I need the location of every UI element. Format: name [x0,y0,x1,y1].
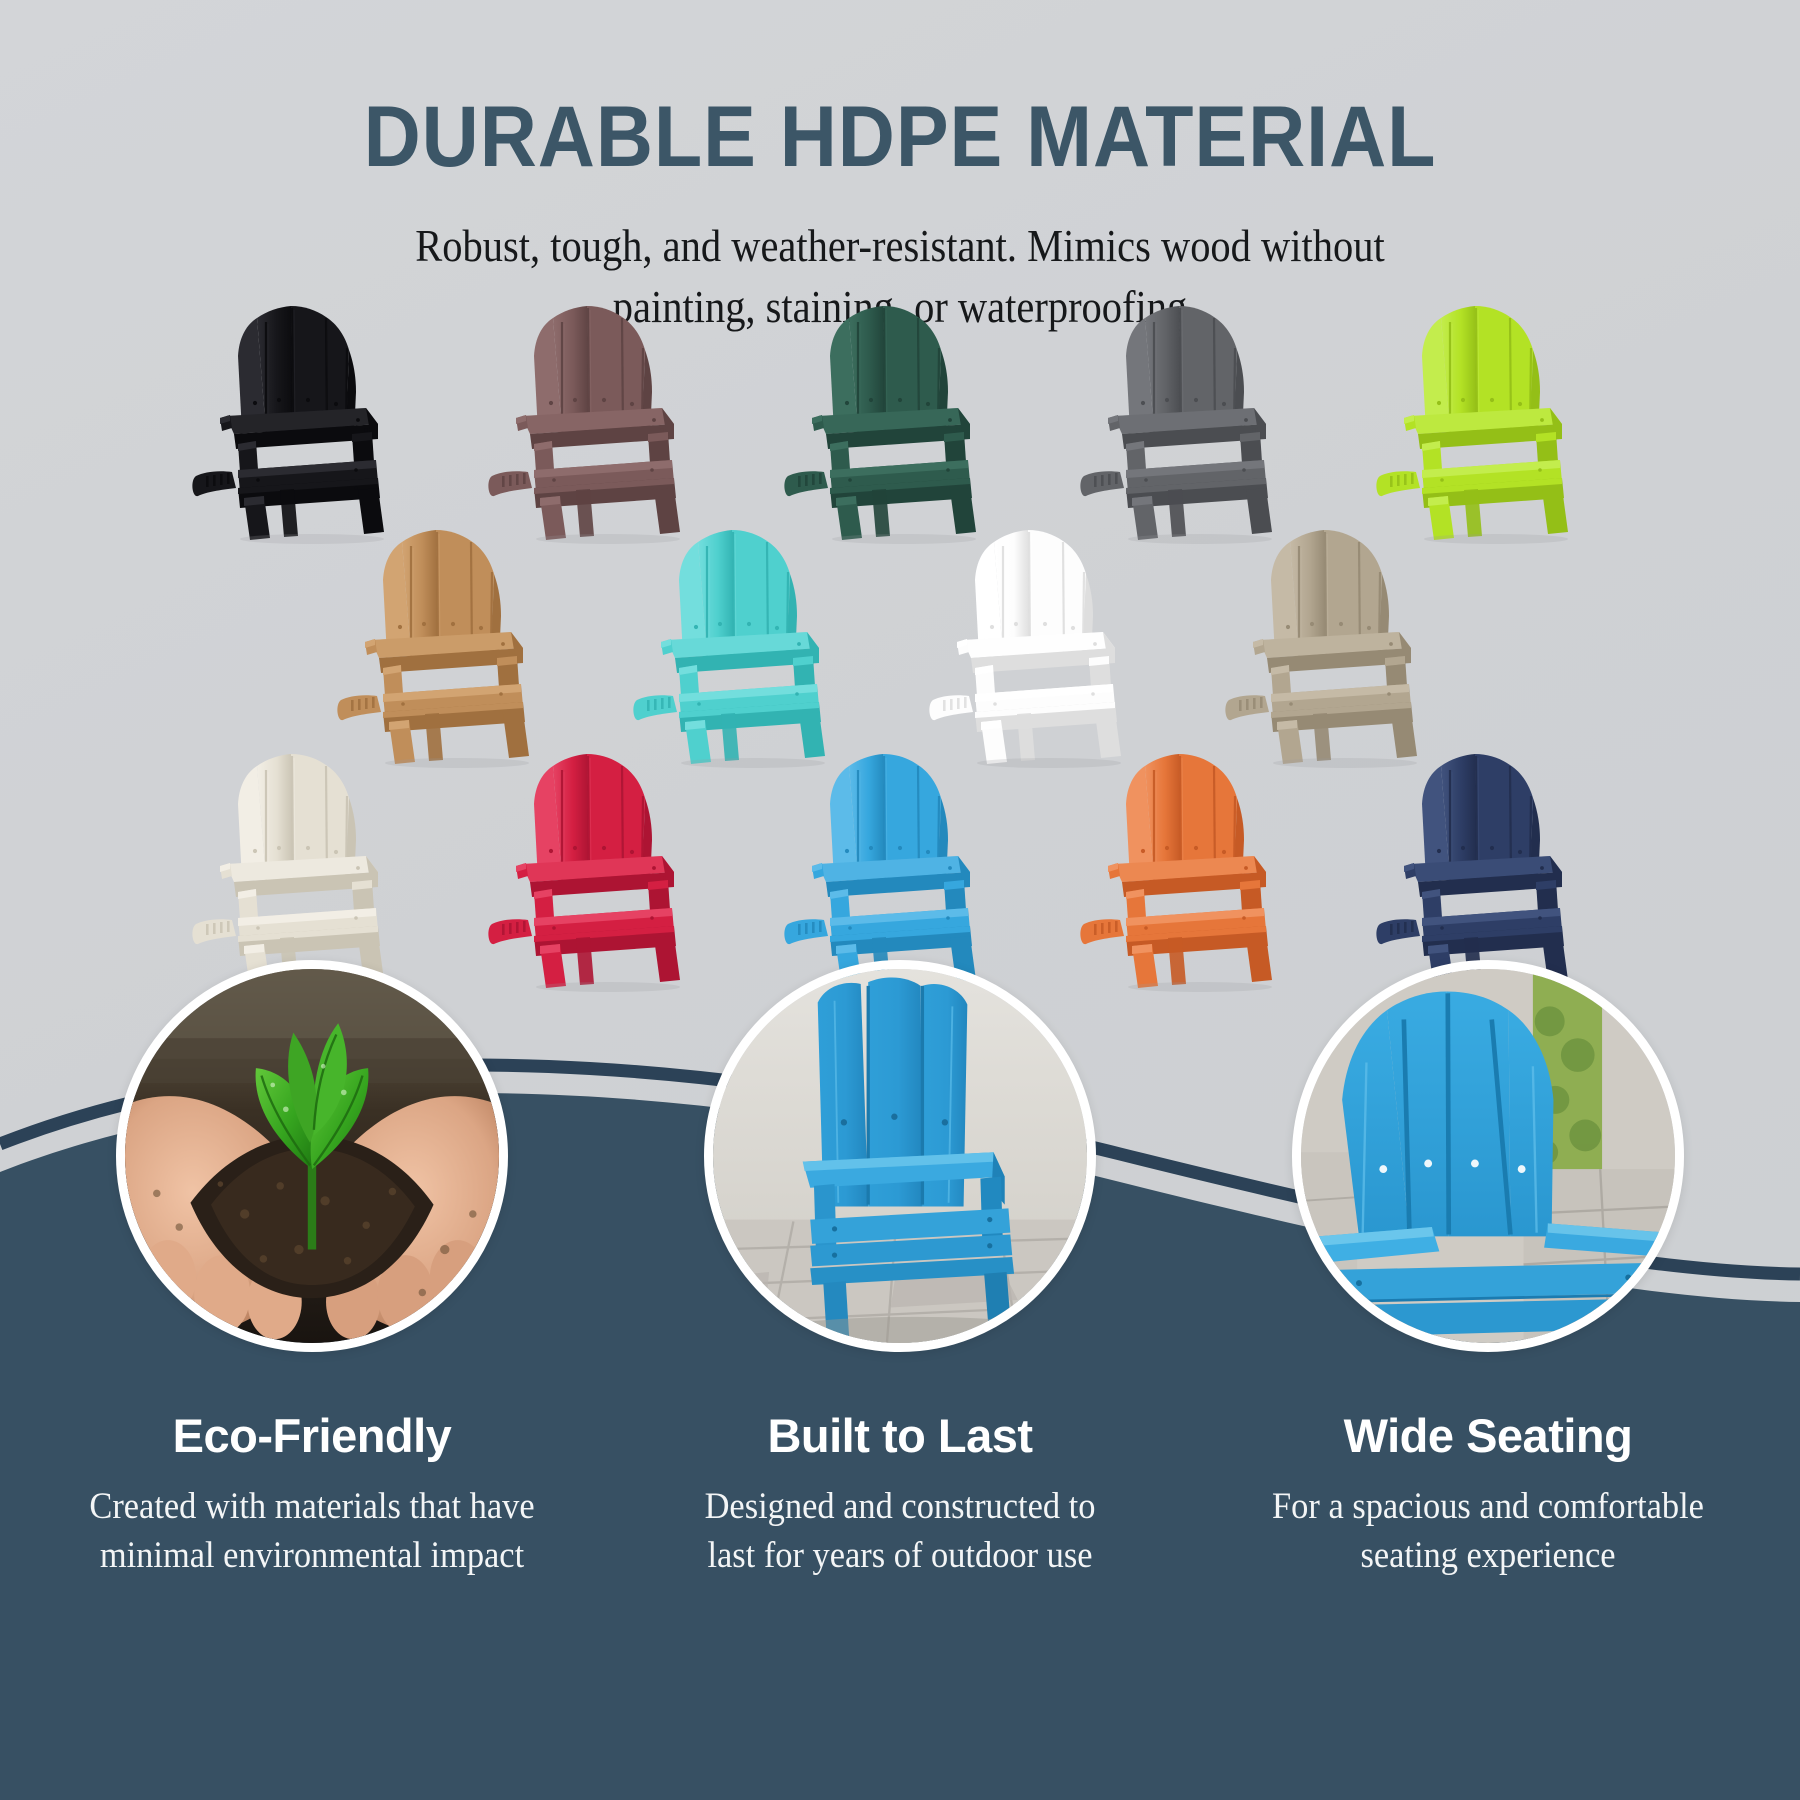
feature-title: Eco-Friendly [52,1408,572,1463]
chair-swatch-navy-blue[interactable] [1364,740,1626,990]
subtitle-line-1: Robust, tough, and weather-resistant. Mi… [108,216,1692,277]
chair-row-3 [6,740,1800,990]
chair-swatch-mauve-brown[interactable] [476,292,738,542]
feature-desc-line-2: last for years of outdoor use [671,1532,1129,1581]
feature-title: Wide Seating [1228,1408,1748,1463]
feature-wide-seating: Wide Seating For a spacious and comforta… [1228,960,1748,1800]
feature-built-to-last: Built to Last Designed and constructed t… [640,960,1160,1800]
feature-desc-line-2: seating experience [1259,1532,1717,1581]
feature-description: For a spacious and comfortable seating e… [1246,1483,1730,1581]
chair-swatch-white[interactable] [917,516,1179,766]
chair-swatch-light-blue[interactable] [772,740,1034,990]
feature-desc-line-1: Designed and constructed to [671,1483,1129,1532]
chair-swatch-orange[interactable] [1068,740,1330,990]
feature-title: Built to Last [640,1408,1160,1463]
feature-eco-friendly: Eco-Friendly Created with materials that… [52,960,572,1800]
feature-desc-line-1: Created with materials that have [83,1483,541,1532]
chair-swatch-gray[interactable] [1068,292,1330,542]
chair-swatch-turquoise[interactable] [621,516,883,766]
chair-swatch-ivory[interactable] [180,740,442,990]
blue-adirondack-chair-patio-photo [704,960,1096,1352]
header: DURABLE HDPE MATERIAL Robust, tough, and… [0,0,1800,337]
chair-swatch-lime-green[interactable] [1364,292,1626,542]
chair-color-grid [0,292,1800,990]
chair-swatch-teak[interactable] [325,516,587,766]
feature-description: Created with materials that have minimal… [70,1483,554,1581]
feature-desc-line-2: minimal environmental impact [83,1532,541,1581]
chair-swatch-red[interactable] [476,740,738,990]
feature-desc-line-1: For a spacious and comfortable [1259,1483,1717,1532]
blue-chair-wide-seat-closeup-photo [1292,960,1684,1352]
chair-swatch-khaki[interactable] [1213,516,1475,766]
chair-swatch-dark-green[interactable] [772,292,1034,542]
feature-list: Eco-Friendly Created with materials that… [0,960,1800,1800]
chair-swatch-black[interactable] [180,292,442,542]
hands-holding-seedling-photo [116,960,508,1352]
page-title: DURABLE HDPE MATERIAL [72,94,1728,180]
feature-description: Designed and constructed to last for yea… [658,1483,1142,1581]
chair-row-2 [0,516,1800,766]
chair-row-1 [6,292,1800,542]
